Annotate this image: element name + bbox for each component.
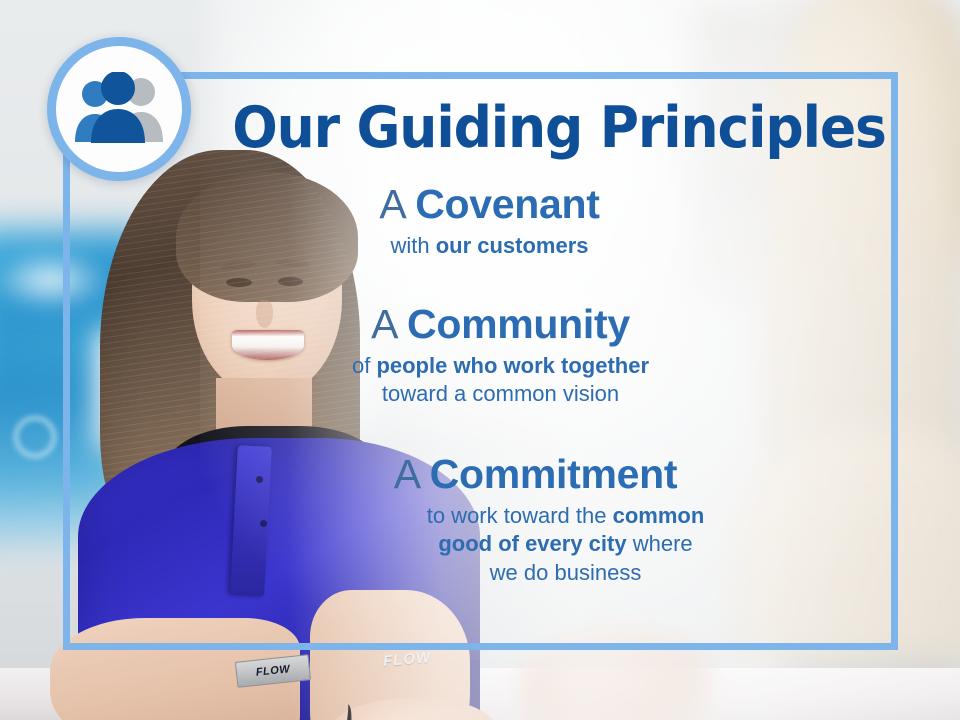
keyword-community: Community bbox=[407, 301, 630, 347]
principle-commitment: A Commitment to work toward the common g… bbox=[63, 452, 898, 587]
principle-covenant-subtitle: with our customers bbox=[81, 232, 898, 260]
principle-covenant: A Covenant with our customers bbox=[63, 182, 898, 260]
article-a: A bbox=[379, 181, 404, 227]
text-content: Our Guiding Principles A Covenant with o… bbox=[63, 72, 898, 650]
principle-community-heading: A Community bbox=[103, 302, 898, 346]
subtitle-bold-3b: good of every city bbox=[438, 531, 626, 556]
subtitle-regular-1: with bbox=[390, 233, 435, 258]
subtitle-bold-2: people who work together bbox=[376, 353, 649, 378]
principle-covenant-heading: A Covenant bbox=[81, 182, 898, 226]
article-a: A bbox=[371, 301, 396, 347]
principle-community: A Community of people who work together … bbox=[63, 302, 898, 409]
principle-community-subtitle: of people who work together toward a com… bbox=[103, 352, 898, 408]
page-title: Our Guiding Principles bbox=[232, 100, 834, 157]
subtitle-bold-1: our customers bbox=[436, 233, 589, 258]
article-a: A bbox=[394, 451, 419, 497]
subtitle-regular-3: to work toward the bbox=[427, 503, 613, 528]
subtitle-line3-3: we do business bbox=[490, 560, 642, 585]
principle-commitment-heading: A Commitment bbox=[173, 452, 898, 496]
subtitle-line2-2: toward a common vision bbox=[382, 381, 619, 406]
guiding-principles-banner: FLOW FLOW bbox=[0, 0, 960, 720]
keyword-covenant: Covenant bbox=[415, 181, 599, 227]
subtitle-regular-2: of bbox=[352, 353, 376, 378]
keyword-commitment: Commitment bbox=[430, 451, 678, 497]
subtitle-bold-3a: common bbox=[613, 503, 705, 528]
subtitle-suffix-3: where bbox=[627, 531, 693, 556]
principle-commitment-subtitle: to work toward the common good of every … bbox=[173, 502, 898, 586]
